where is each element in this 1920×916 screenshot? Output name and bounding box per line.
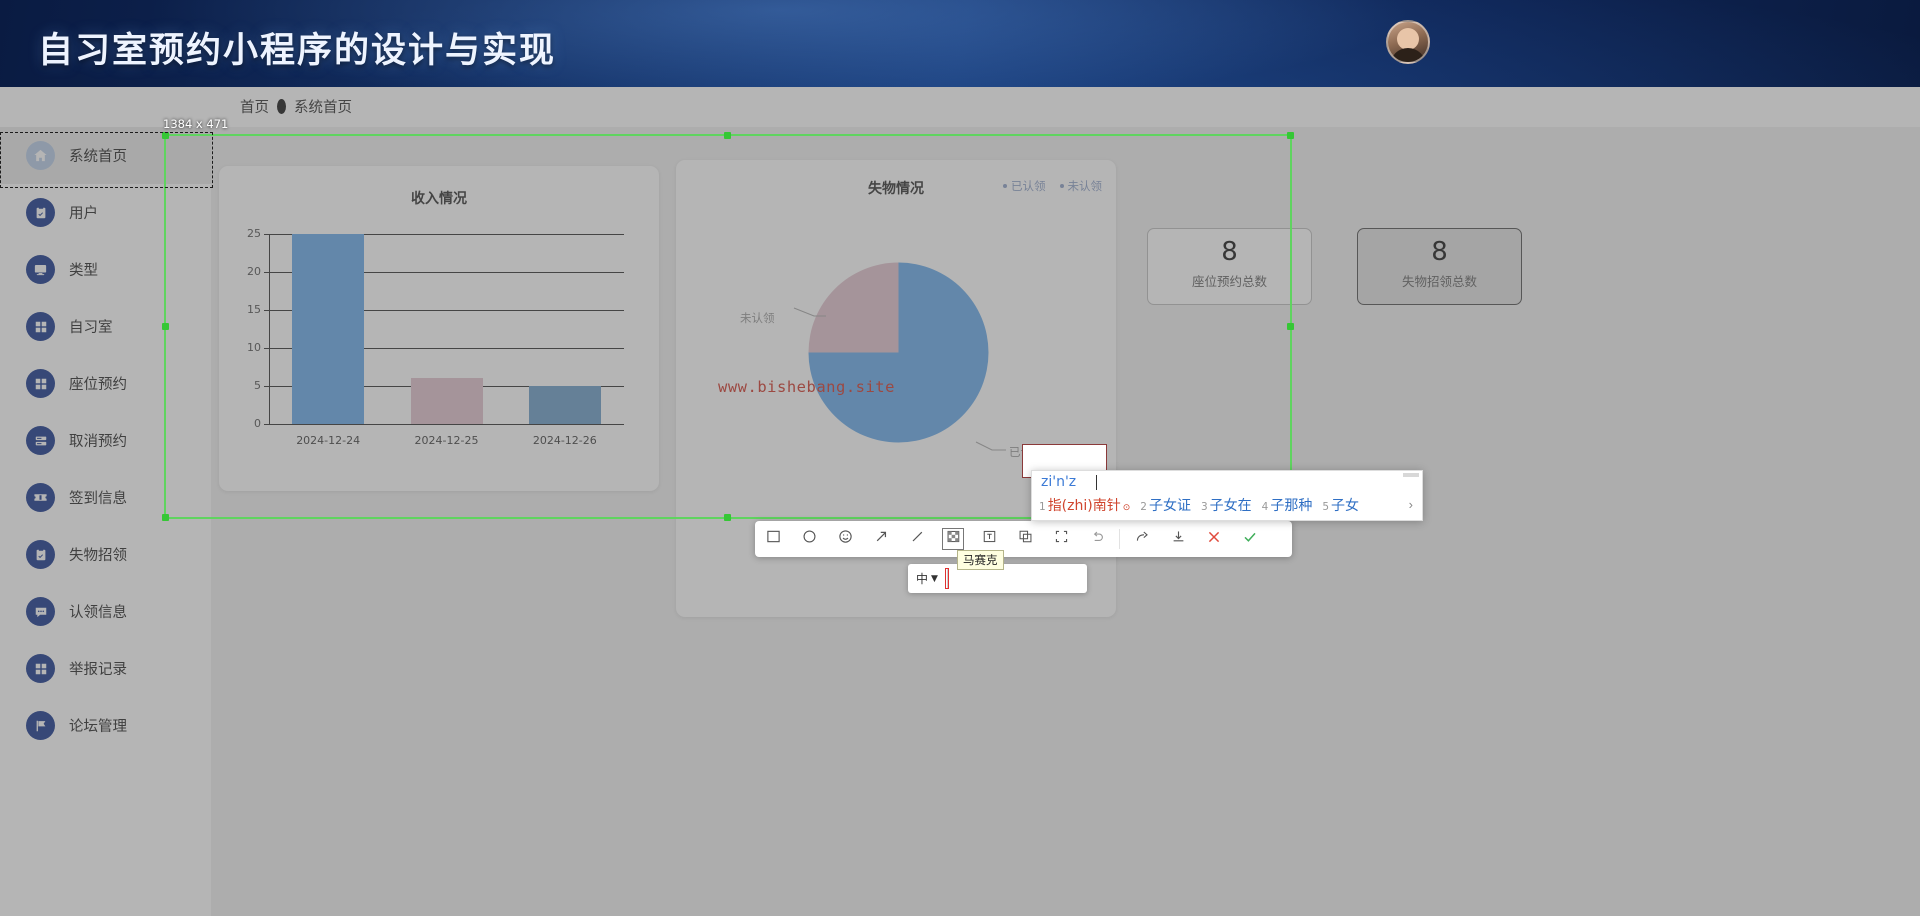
- y-tick: [264, 234, 269, 235]
- arrow-icon: [874, 529, 889, 549]
- stat-card-reservations: 8 座位预约总数: [1147, 228, 1312, 305]
- ime-candidate-list: 1指(zhi)南针⊙2子女证3子女在4子那种5子女: [1039, 495, 1359, 515]
- stat-label: 座位预约总数: [1148, 271, 1311, 290]
- pen-tool[interactable]: [899, 521, 935, 557]
- y-tick: [264, 272, 269, 273]
- toolbar-separator: [1119, 529, 1120, 549]
- rectangle-tool[interactable]: [755, 521, 791, 557]
- sidebar-item-1[interactable]: 用户: [0, 184, 211, 241]
- undo-tool[interactable]: [1079, 521, 1115, 557]
- expand-icon: [1054, 529, 1069, 549]
- income-chart-card: 收入情况 05101520252024-12-242024-12-252024-…: [219, 166, 659, 491]
- clipboard-icon: [26, 540, 55, 569]
- pie-label-unclaimed: 未认领: [740, 310, 775, 326]
- tool-tooltip: 马赛克: [957, 550, 1004, 570]
- legend-dot-icon: [1060, 184, 1064, 188]
- sidebar-item-label: 座位预约: [69, 373, 127, 394]
- pen-icon: [910, 529, 925, 549]
- y-tick-label: 15: [247, 303, 261, 316]
- candidate-text: 指(zhi)南针: [1048, 495, 1121, 515]
- ime-candidate-1[interactable]: 1指(zhi)南针⊙: [1039, 495, 1130, 515]
- ime-candidate-4[interactable]: 4子那种: [1262, 495, 1313, 515]
- candidate-index: 2: [1140, 501, 1147, 513]
- avatar-face: [1397, 28, 1419, 50]
- candidate-text: 子女: [1331, 495, 1359, 515]
- brush-size-label: 中: [916, 570, 928, 587]
- grid-icon: [26, 654, 55, 683]
- breadcrumb-home[interactable]: 首页: [240, 96, 269, 117]
- share-icon: [1135, 529, 1150, 549]
- stat-label: 失物招领总数: [1358, 271, 1521, 290]
- confirm-tool[interactable]: [1232, 521, 1268, 557]
- sidebar-item-2[interactable]: 类型: [0, 241, 211, 298]
- bar-chart: 收入情况 05101520252024-12-242024-12-252024-…: [219, 166, 659, 491]
- candidate-mark-icon: ⊙: [1123, 503, 1131, 513]
- undo-icon: [1090, 529, 1105, 549]
- sidebar-item-9[interactable]: 举报记录: [0, 640, 211, 697]
- clipboard-icon: [26, 198, 55, 227]
- breadcrumb: 首页 系统首页: [240, 96, 352, 117]
- stat-card-lost-found: 8 失物招领总数: [1357, 228, 1522, 305]
- legend-dot-icon: [1003, 184, 1007, 188]
- ime-next-page-icon[interactable]: ›: [1409, 497, 1413, 512]
- breadcrumb-current: 系统首页: [294, 96, 352, 117]
- x-tick-label: 2024-12-25: [387, 434, 505, 447]
- sidebar-item-label: 举报记录: [69, 658, 127, 679]
- bar-chart-title: 收入情况: [219, 188, 659, 208]
- sticker-tool[interactable]: [1007, 521, 1043, 557]
- app-banner: 自习室预约小程序的设计与实现: [0, 0, 1920, 87]
- app-title: 自习室预约小程序的设计与实现: [38, 22, 556, 73]
- candidate-text: 子那种: [1270, 495, 1312, 515]
- selection-dimensions: 1384 x 471: [163, 117, 228, 131]
- ellipse-tool[interactable]: [791, 521, 827, 557]
- sidebar-item-3[interactable]: 自习室: [0, 298, 211, 355]
- candidate-text: 子女在: [1210, 495, 1252, 515]
- breadcrumb-separator-icon: [277, 99, 286, 114]
- legend-label: 已认领: [1011, 178, 1046, 194]
- sidebar-item-label: 自习室: [69, 316, 113, 337]
- pie-chart-legend: 已认领 未认领: [1003, 178, 1102, 194]
- sidebar-item-10[interactable]: 论坛管理: [0, 697, 211, 754]
- square-icon: [766, 529, 781, 549]
- sidebar: 系统首页用户类型自习室座位预约取消预约签到信息失物招领认领信息举报记录论坛管理: [0, 127, 211, 916]
- share-tool[interactable]: [1124, 521, 1160, 557]
- candidate-text: 子女证: [1149, 495, 1191, 515]
- y-tick-label: 20: [247, 265, 261, 278]
- stat-value: 8: [1148, 237, 1311, 267]
- chevron-down-icon: ▼: [931, 574, 938, 584]
- y-tick-label: 5: [254, 379, 261, 392]
- ime-candidate-5[interactable]: 5子女: [1322, 495, 1359, 515]
- sidebar-item-label: 认领信息: [69, 601, 127, 622]
- pie-graphic: [806, 260, 991, 445]
- grid-icon: [26, 369, 55, 398]
- sidebar-item-4[interactable]: 座位预约: [0, 355, 211, 412]
- ime-scroll-indicator[interactable]: [1403, 473, 1419, 477]
- legend-item-claimed[interactable]: 已认领: [1003, 178, 1046, 194]
- ime-candidate-2[interactable]: 2子女证: [1140, 495, 1191, 515]
- sidebar-item-label: 签到信息: [69, 487, 127, 508]
- annotation-toolbar: [755, 521, 1292, 557]
- sidebar-item-0[interactable]: 系统首页: [0, 127, 211, 184]
- ocr-tool[interactable]: [1043, 521, 1079, 557]
- candidate-index: 1: [1039, 501, 1046, 513]
- candidate-index: 5: [1322, 501, 1329, 513]
- sidebar-item-label: 取消预约: [69, 430, 127, 451]
- bar[interactable]: [292, 234, 364, 424]
- download-tool[interactable]: [1160, 521, 1196, 557]
- sidebar-item-label: 失物招领: [69, 544, 127, 565]
- stat-value: 8: [1358, 237, 1521, 267]
- sidebar-item-8[interactable]: 认领信息: [0, 583, 211, 640]
- avatar[interactable]: [1386, 20, 1430, 64]
- ime-caret: [1096, 475, 1097, 490]
- cancel-tool[interactable]: [1196, 521, 1232, 557]
- emoji-tool[interactable]: [827, 521, 863, 557]
- sidebar-item-label: 用户: [69, 202, 98, 223]
- flag-icon: [26, 711, 55, 740]
- sidebar-item-6[interactable]: 签到信息: [0, 469, 211, 526]
- banner-swoosh-decoration: [514, 0, 1426, 87]
- legend-item-unclaimed[interactable]: 未认领: [1060, 178, 1103, 194]
- monitor-icon: [26, 255, 55, 284]
- y-tick-label: 10: [247, 341, 261, 354]
- ticket-icon: [26, 483, 55, 512]
- sidebar-item-label: 系统首页: [69, 145, 127, 166]
- y-tick: [264, 348, 269, 349]
- sidebar-item-label: 类型: [69, 259, 98, 280]
- mosaic-icon: [946, 529, 961, 549]
- y-tick-label: 25: [247, 227, 261, 240]
- bar-chart-x-axis: [269, 424, 624, 425]
- text-icon: [982, 529, 997, 549]
- color-swatches: [947, 570, 949, 588]
- copy-icon: [1018, 529, 1033, 549]
- sidebar-item-5[interactable]: 取消预约: [0, 412, 211, 469]
- smiley-icon: [838, 529, 853, 549]
- check-icon: [1242, 529, 1258, 550]
- legend-label: 未认领: [1068, 178, 1103, 194]
- color-swatch-5[interactable]: [947, 569, 949, 588]
- sidebar-item-7[interactable]: 失物招领: [0, 526, 211, 583]
- y-tick: [264, 310, 269, 311]
- y-tick: [264, 386, 269, 387]
- candidate-index: 3: [1201, 501, 1208, 513]
- sidebar-item-label: 论坛管理: [69, 715, 127, 736]
- chat-icon: [26, 597, 55, 626]
- close-icon: [1206, 529, 1222, 550]
- y-tick: [264, 424, 269, 425]
- avatar-body: [1390, 48, 1426, 64]
- y-tick-label: 0: [254, 417, 261, 430]
- circle-icon: [802, 529, 817, 549]
- download-icon: [1171, 529, 1186, 549]
- x-tick-label: 2024-12-24: [269, 434, 387, 447]
- ime-candidate-panel: zi'n'z 1指(zhi)南针⊙2子女证3子女在4子那种5子女 ›: [1031, 470, 1423, 521]
- home-icon: [26, 141, 55, 170]
- x-tick-label: 2024-12-26: [506, 434, 624, 447]
- candidate-index: 4: [1262, 501, 1269, 513]
- bar[interactable]: [411, 378, 483, 424]
- ime-candidate-3[interactable]: 3子女在: [1201, 495, 1252, 515]
- brush-size-select[interactable]: 中 ▼: [916, 570, 938, 587]
- bar-chart-y-axis: [269, 234, 270, 424]
- bar[interactable]: [529, 386, 601, 424]
- grid-icon: [26, 312, 55, 341]
- list-icon: [26, 426, 55, 455]
- ime-composition-text: zi'n'z: [1041, 474, 1076, 490]
- arrow-tool[interactable]: [863, 521, 899, 557]
- watermark: www.bishebang.site: [718, 378, 895, 396]
- bar-chart-plot: 05101520252024-12-242024-12-252024-12-26: [269, 234, 624, 424]
